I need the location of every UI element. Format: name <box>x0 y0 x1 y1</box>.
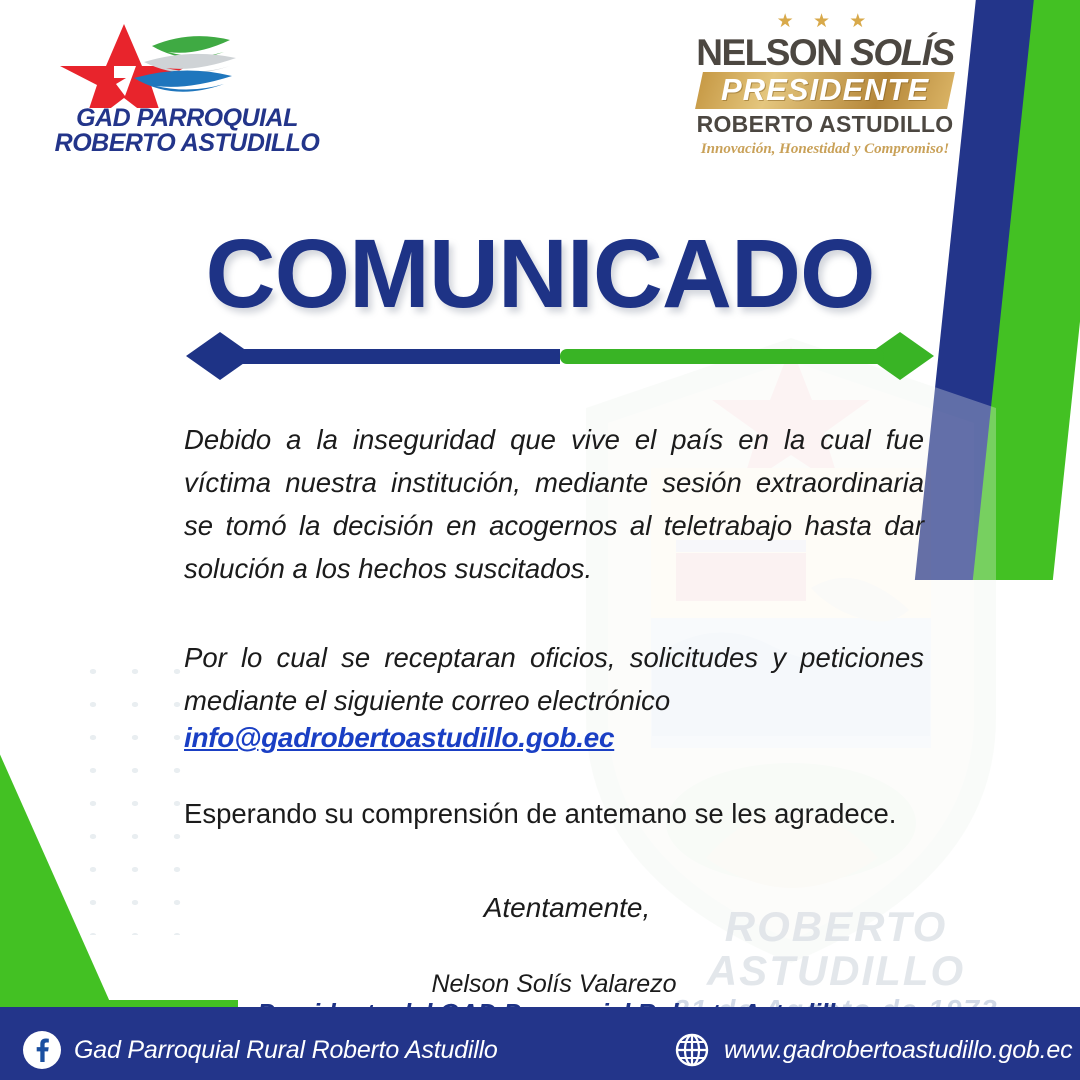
communique-body: Debido a la inseguridad que vive el país… <box>184 418 924 1028</box>
gad-logo: GAD PARROQUIAL ROBERTO ASTUDILLO <box>52 22 322 152</box>
campaign-role-label: PRESIDENTE <box>699 74 951 106</box>
communique-poster: ROBERTO ASTUDILLO 21 de Agosto de 1973 G… <box>0 0 1080 1080</box>
footer-accent-bar <box>0 1000 238 1007</box>
star-wave-logo-icon <box>52 22 322 108</box>
paragraph-1: Debido a la inseguridad que vive el país… <box>184 418 924 590</box>
page-title: COMUNICADO <box>0 224 1080 324</box>
footer-bar: Gad Parroquial Rural Roberto Astudillo w… <box>0 1007 1080 1080</box>
paragraph-3: Esperando su comprensión de antemano se … <box>184 794 924 834</box>
candidate-last-name: SOLÍS <box>850 32 954 73</box>
candidate-first-name: NELSON <box>696 32 850 73</box>
dot-grid-pattern <box>72 655 202 935</box>
footer-website[interactable]: www.gadrobertoastudillo.gob.ec <box>672 1030 1072 1070</box>
footer-facebook-label: Gad Parroquial Rural Roberto Astudillo <box>74 1036 498 1065</box>
footer-website-label: www.gadrobertoastudillo.gob.ec <box>724 1036 1072 1065</box>
contact-email-link[interactable]: info@gadrobertoastudillo.gob.ec <box>184 722 614 754</box>
globe-icon <box>672 1030 712 1070</box>
footer-facebook[interactable]: Gad Parroquial Rural Roberto Astudillo <box>22 1030 498 1070</box>
paragraph-2: Por lo cual se receptaran oficios, solic… <box>184 636 924 722</box>
three-stars-icon: ★ ★ ★ <box>690 12 960 32</box>
campaign-candidate-name: NELSON SOLÍS <box>690 34 960 71</box>
title-divider <box>186 330 934 382</box>
spacer-4 <box>184 924 924 970</box>
gad-logo-text: GAD PARROQUIAL ROBERTO ASTUDILLO <box>52 106 322 156</box>
campaign-slogan: Innovación, Honestidad y Compromiso! <box>690 140 960 158</box>
gad-logo-line-2: ROBERTO ASTUDILLO <box>52 131 322 156</box>
campaign-role-band: PRESIDENTE <box>695 72 955 109</box>
closing-line: Atentamente, <box>184 892 924 924</box>
spacer-2 <box>184 754 924 794</box>
campaign-parish-label: ROBERTO ASTUDILLO <box>690 112 960 137</box>
spacer-3 <box>184 834 924 892</box>
gad-logo-line-1: GAD PARROQUIAL <box>52 106 322 131</box>
spacer-1 <box>184 590 924 636</box>
facebook-icon <box>22 1030 62 1070</box>
signer-name: Nelson Solís Valarezo <box>184 970 924 998</box>
campaign-logo: ★ ★ ★ NELSON SOLÍS PRESIDENTE ROBERTO AS… <box>690 12 960 162</box>
